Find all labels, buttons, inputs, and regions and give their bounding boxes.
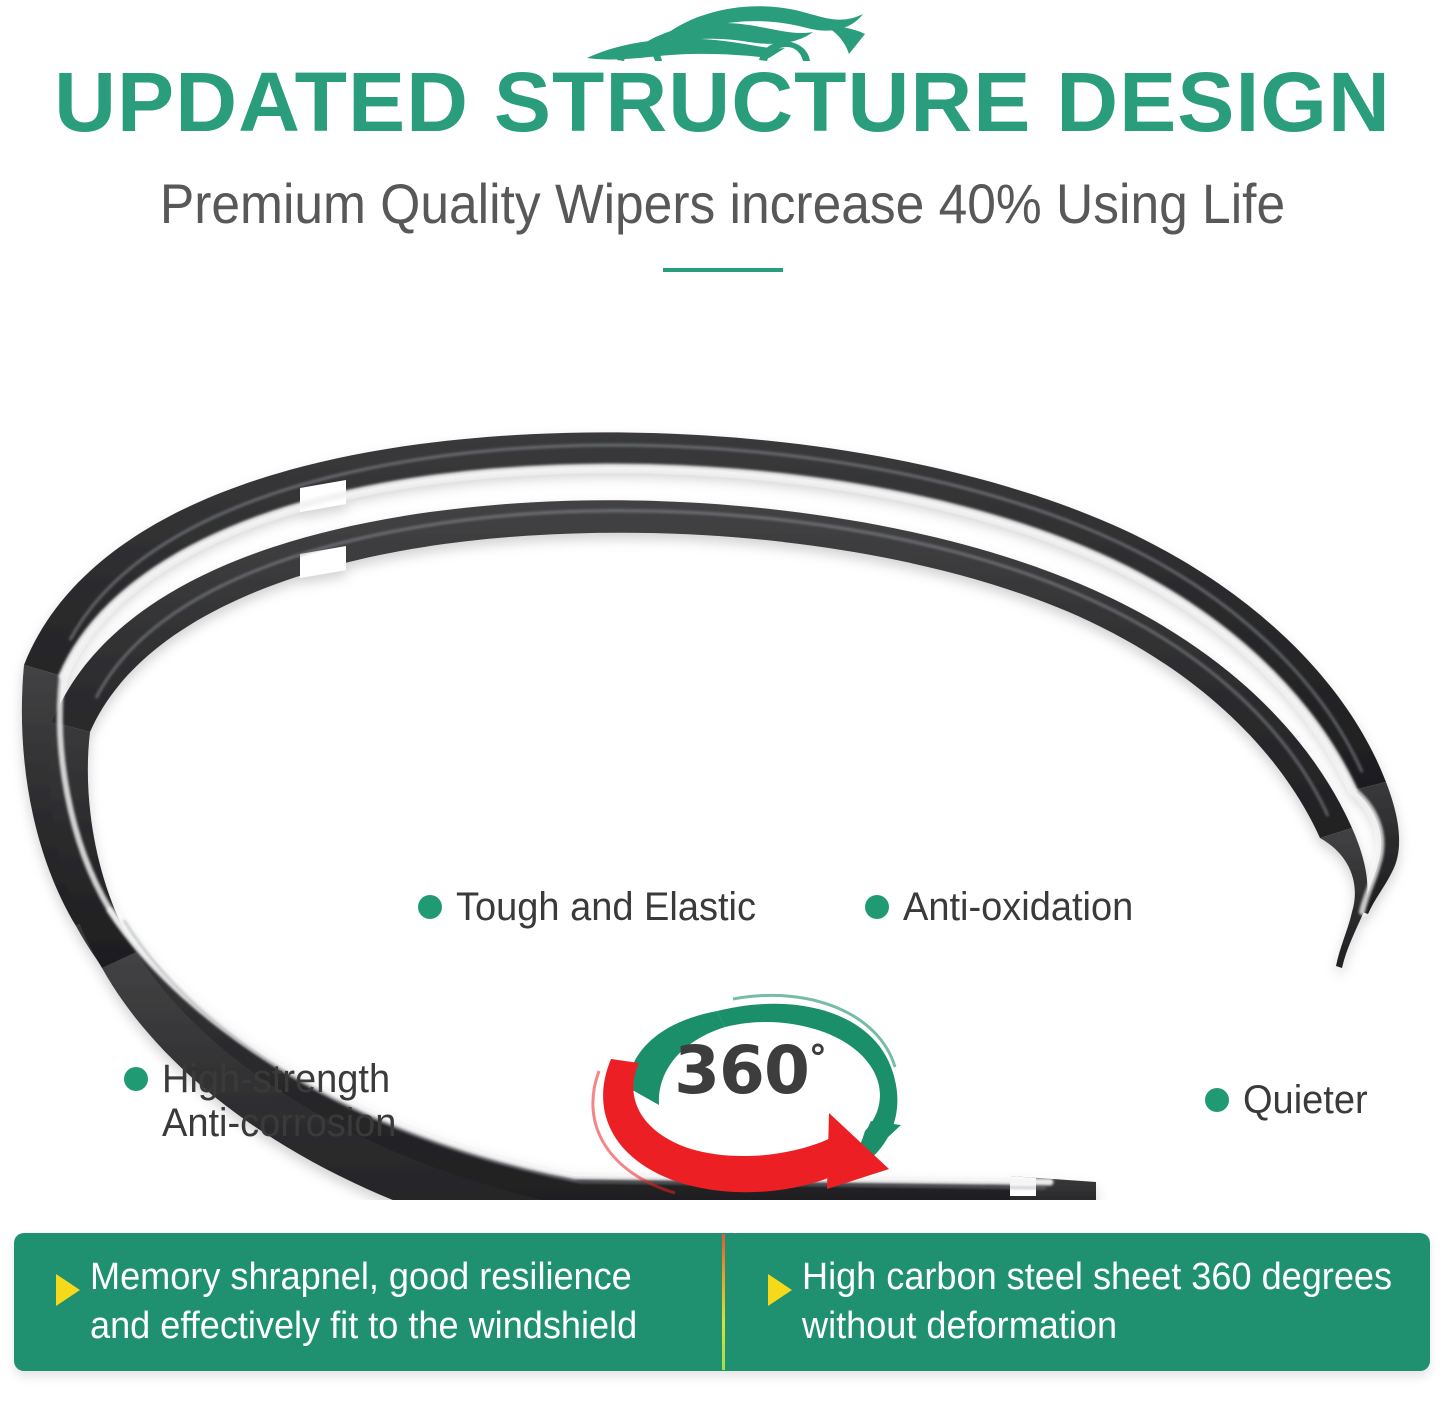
triangle-bullet-icon: [56, 1274, 80, 1306]
banner-panel-text: High carbon steel sheet 360 degrees with…: [802, 1253, 1392, 1350]
feature-label-text-block: High-strength Anti-corrosion: [162, 1057, 396, 1145]
header: UPDATED STRUCTURE DESIGN Premium Quality…: [0, 0, 1445, 300]
bullet-dot-icon: [418, 895, 442, 919]
banner-panel-memory-shrapnel: Memory shrapnel, good resilience and eff…: [14, 1233, 722, 1371]
feature-label-quieter: Quieter: [1205, 1078, 1374, 1122]
triangle-bullet-icon: [768, 1274, 792, 1306]
banner-vertical-divider: [722, 1234, 725, 1370]
feature-label-text: Anti-oxidation: [903, 885, 1133, 929]
feature-label-line2: Anti-corrosion: [162, 1101, 396, 1145]
feature-label-tough-and-elastic: Tough and Elastic: [418, 885, 772, 929]
banner-line1: Memory shrapnel, good resilience: [90, 1256, 632, 1298]
page-subtitle: Premium Quality Wipers increase 40% Usin…: [58, 176, 1387, 232]
bullet-dot-icon: [865, 895, 889, 919]
bullet-dot-icon: [124, 1067, 148, 1091]
page-title: UPDATED STRUCTURE DESIGN: [0, 60, 1445, 144]
banner-panel-high-carbon-steel: High carbon steel sheet 360 degrees with…: [722, 1233, 1430, 1371]
product-showcase: Tough and Elastic Anti-oxidation High-st…: [0, 320, 1445, 1200]
banner-line2: and effectively fit to the windshield: [90, 1305, 637, 1347]
banner-line1: High carbon steel sheet 360 degrees: [802, 1256, 1392, 1298]
badge-360-label: 360°: [565, 1038, 935, 1104]
feature-label-anti-oxidation: Anti-oxidation: [865, 885, 1145, 929]
banner-panel-text: Memory shrapnel, good resilience and eff…: [90, 1253, 637, 1350]
banner-line2: without deformation: [802, 1305, 1117, 1347]
degree-symbol-icon: °: [809, 1038, 826, 1079]
feature-label-text: Tough and Elastic: [456, 885, 756, 929]
badge-360-value: 360: [674, 1032, 809, 1109]
feature-label-line1: High-strength: [162, 1057, 390, 1101]
bullet-dot-icon: [1205, 1088, 1229, 1112]
title-underline-divider: [663, 268, 783, 272]
feature-label-high-strength-anti-corrosion: High-strength Anti-corrosion: [124, 1057, 409, 1145]
feature-label-text: Quieter: [1243, 1078, 1368, 1122]
